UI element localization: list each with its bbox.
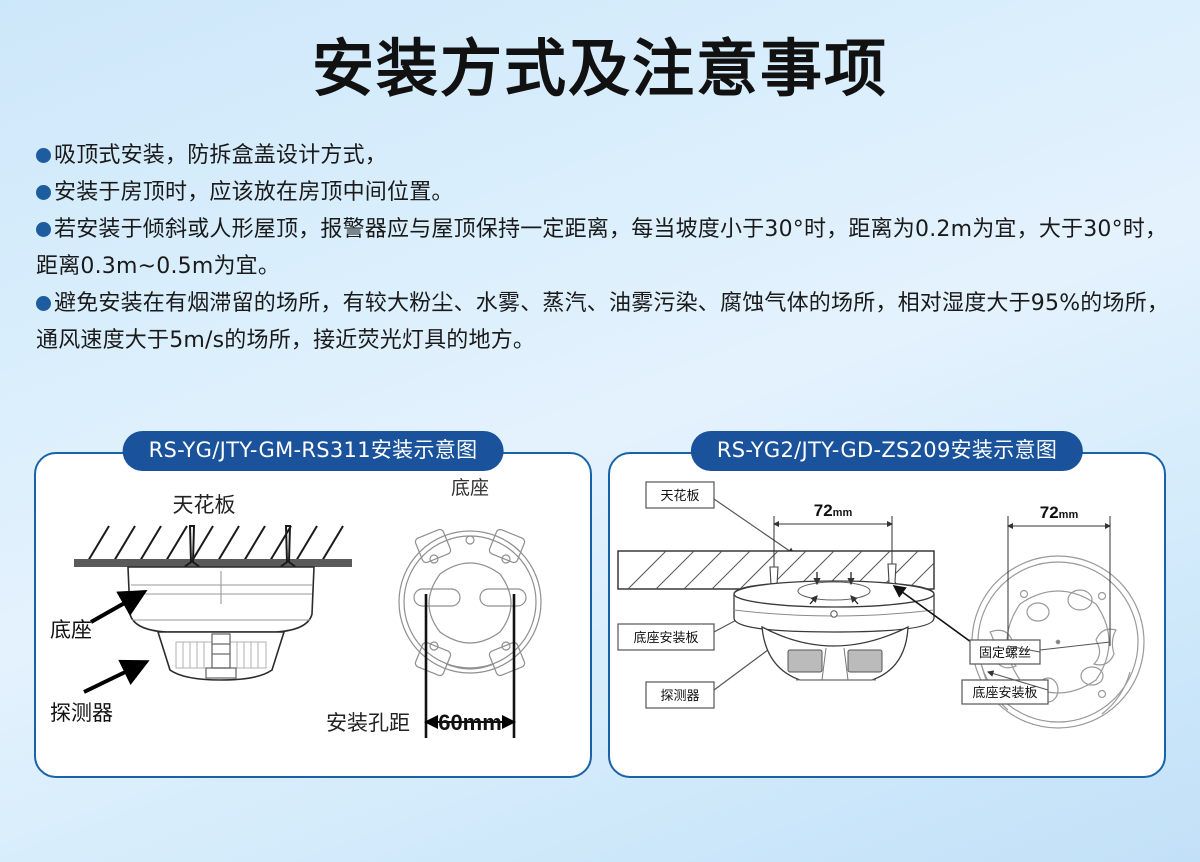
list-item-continuation: 通风速度大于5m/s的场所，接近荧光灯具的地方。 bbox=[36, 322, 1176, 359]
label-hole-pitch: 安装孔距 bbox=[326, 711, 410, 735]
bullet-icon bbox=[36, 296, 51, 311]
diagram-zs209: 天花板 底座安装板 探测器 bbox=[610, 454, 1164, 776]
panel-rs311: RS-YG/JTY-GM-RS311安装示意图 天花板 bbox=[34, 452, 592, 778]
page-title: 安装方式及注意事项 bbox=[0, 0, 1200, 101]
list-item: 安装于房顶时，应该放在房顶中间位置。 bbox=[36, 174, 1176, 211]
diagram-panels: RS-YG/JTY-GM-RS311安装示意图 天花板 bbox=[34, 452, 1166, 778]
label-base-arrow: 底座 bbox=[50, 618, 92, 642]
panel-zs209: RS-YG2/JTY-GD-ZS209安装示意图 bbox=[608, 452, 1166, 778]
callout-ceiling: 天花板 bbox=[646, 482, 794, 554]
note-text: 距离0.3m~0.5m为宜。 bbox=[36, 248, 280, 285]
list-item-continuation: 距离0.3m~0.5m为宜。 bbox=[36, 248, 1176, 285]
label-detector-arrow: 探测器 bbox=[50, 701, 113, 725]
list-item: 吸顶式安装，防拆盒盖设计方式， bbox=[36, 137, 1176, 174]
bullet-icon bbox=[36, 185, 51, 200]
bullet-icon bbox=[36, 148, 51, 163]
dimension-72mm-left: 72mm bbox=[814, 501, 853, 520]
bullet-icon bbox=[36, 222, 51, 237]
note-text: 通风速度大于5m/s的场所，接近荧光灯具的地方。 bbox=[36, 322, 535, 359]
svg-text:固定螺丝: 固定螺丝 bbox=[979, 646, 1031, 661]
svg-text:天花板: 天花板 bbox=[660, 488, 699, 504]
svg-text:底座安装板: 底座安装板 bbox=[633, 630, 698, 646]
note-text: 若安装于倾斜或人形屋顶，报警器应与屋顶保持一定距离，每当坡度小于30°时，距离为… bbox=[54, 211, 1167, 248]
svg-text:底座安装板: 底座安装板 bbox=[972, 685, 1037, 701]
note-text: 避免安装在有烟滞留的场所，有较大粉尘、水雾、蒸汽、油雾污染、腐蚀气体的场所，相对… bbox=[54, 285, 1169, 322]
label-base-top: 底座 bbox=[451, 477, 489, 499]
callout-screw: 固定螺丝 bbox=[970, 640, 1110, 664]
note-text: 吸顶式安装，防拆盒盖设计方式， bbox=[54, 137, 387, 174]
list-item: 避免安装在有烟滞留的场所，有较大粉尘、水雾、蒸汽、油雾污染、腐蚀气体的场所，相对… bbox=[36, 285, 1176, 322]
note-text: 安装于房顶时，应该放在房顶中间位置。 bbox=[54, 174, 454, 211]
callout-detector: 探测器 bbox=[646, 644, 776, 708]
diagram-rs311: 天花板 bbox=[36, 454, 590, 776]
list-item: 若安装于倾斜或人形屋顶，报警器应与屋顶保持一定距离，每当坡度小于30°时，距离为… bbox=[36, 211, 1176, 248]
notes-list: 吸顶式安装，防拆盒盖设计方式， 安装于房顶时，应该放在房顶中间位置。 若安装于倾… bbox=[0, 137, 1200, 359]
svg-text:探测器: 探测器 bbox=[660, 689, 699, 704]
dimension-72mm-right: 72mm bbox=[1040, 503, 1079, 522]
label-ceiling: 天花板 bbox=[173, 493, 236, 517]
label-hole-dimension: 60mm bbox=[438, 710, 502, 735]
callout-base-plate-2: 底座安装板 bbox=[962, 672, 1048, 704]
